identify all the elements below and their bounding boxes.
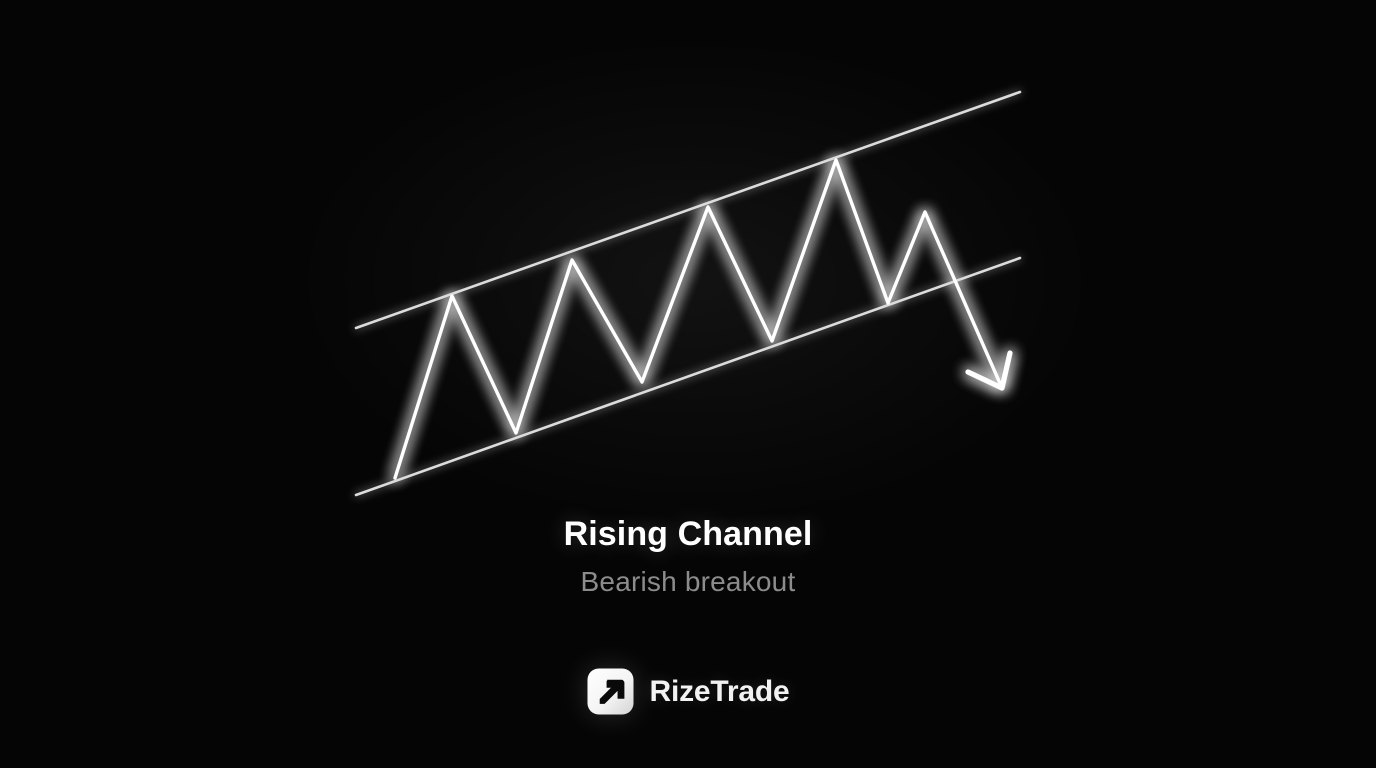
rising-channel-chart — [0, 0, 1376, 768]
brand-lockup: RizeTrade — [0, 668, 1376, 715]
page-title: Rising Channel — [0, 512, 1376, 556]
arrow-up-right-rounded-square-icon — [587, 668, 634, 715]
brand-name: RizeTrade — [650, 675, 790, 709]
pattern-subtitle: Bearish breakout — [0, 562, 1376, 602]
caption-block: Rising Channel Bearish breakout — [0, 512, 1376, 602]
pattern-illustration-stage: Rising Channel Bearish breakout RizeTr — [0, 0, 1376, 768]
